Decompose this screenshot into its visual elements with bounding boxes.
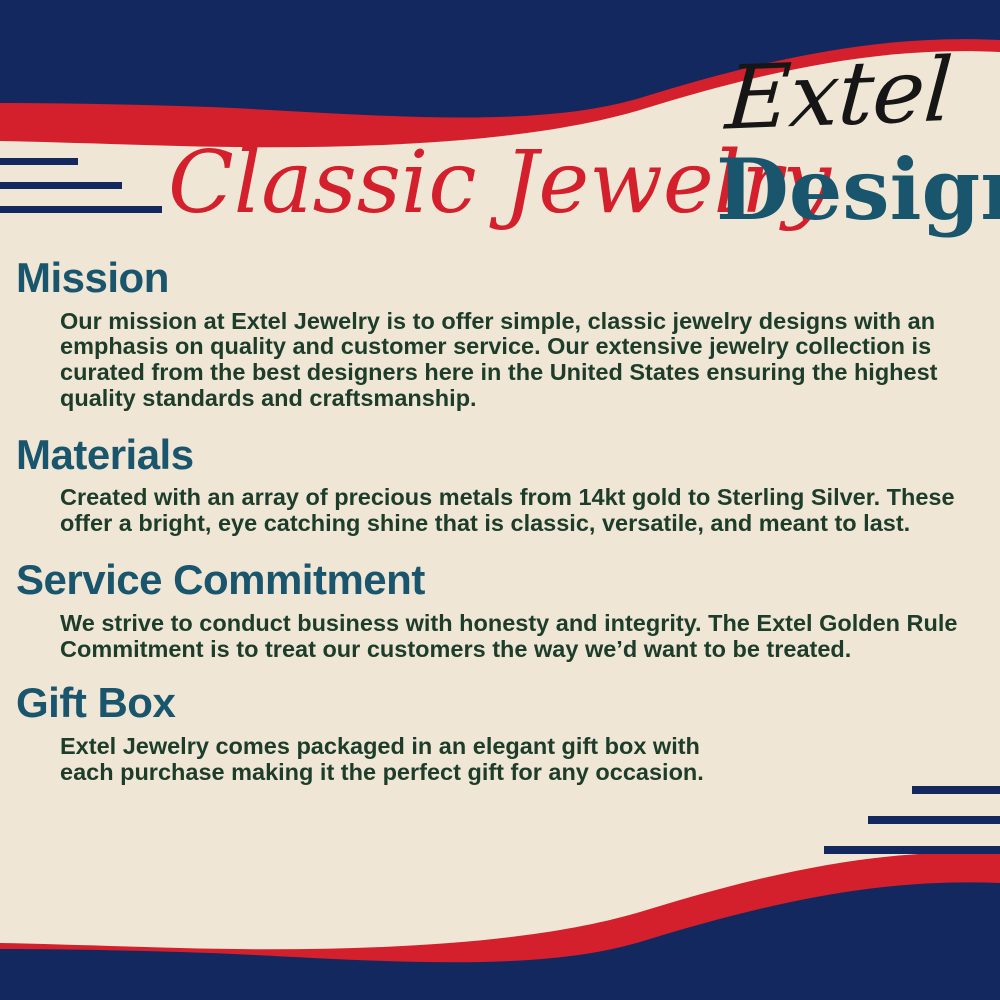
poster-content: Mission Our mission at Extel Jewelry is … [0, 253, 1000, 786]
left-rule-short [0, 158, 78, 165]
section-heading-materials: Materials [0, 430, 1000, 480]
right-rule-medium [868, 816, 1000, 824]
section-body-materials: Created with an array of precious metals… [0, 485, 1000, 537]
right-rule-short [912, 786, 1000, 794]
section-body-gift-box: Extel Jewelry comes packaged in an elega… [0, 734, 1000, 786]
left-rule-medium [0, 182, 122, 189]
right-rule-long [824, 846, 1000, 854]
section-gift-box: Gift Box Extel Jewelry comes packaged in… [0, 678, 1000, 785]
poster-canvas: Extel Classic Jewelry Design Mission Our… [0, 0, 1000, 1000]
section-body-mission: Our mission at Extel Jewelry is to offer… [0, 309, 1000, 412]
section-heading-mission: Mission [0, 253, 1000, 303]
right-rule-group [780, 786, 1000, 876]
bottom-navy-wave-shape [0, 882, 1000, 1000]
section-service-commitment: Service Commitment We strive to conduct … [0, 555, 1000, 662]
poster-header: Extel Classic Jewelry Design [0, 0, 1000, 255]
page-title-design: Design [716, 148, 1000, 232]
section-heading-service-commitment: Service Commitment [0, 555, 1000, 605]
brand-logo-extel: Extel [723, 46, 954, 143]
left-rule-long [0, 206, 162, 213]
section-body-service-commitment: We strive to conduct business with hones… [0, 611, 1000, 663]
section-materials: Materials Created with an array of preci… [0, 430, 1000, 537]
section-mission: Mission Our mission at Extel Jewelry is … [0, 253, 1000, 412]
section-heading-gift-box: Gift Box [0, 678, 1000, 728]
